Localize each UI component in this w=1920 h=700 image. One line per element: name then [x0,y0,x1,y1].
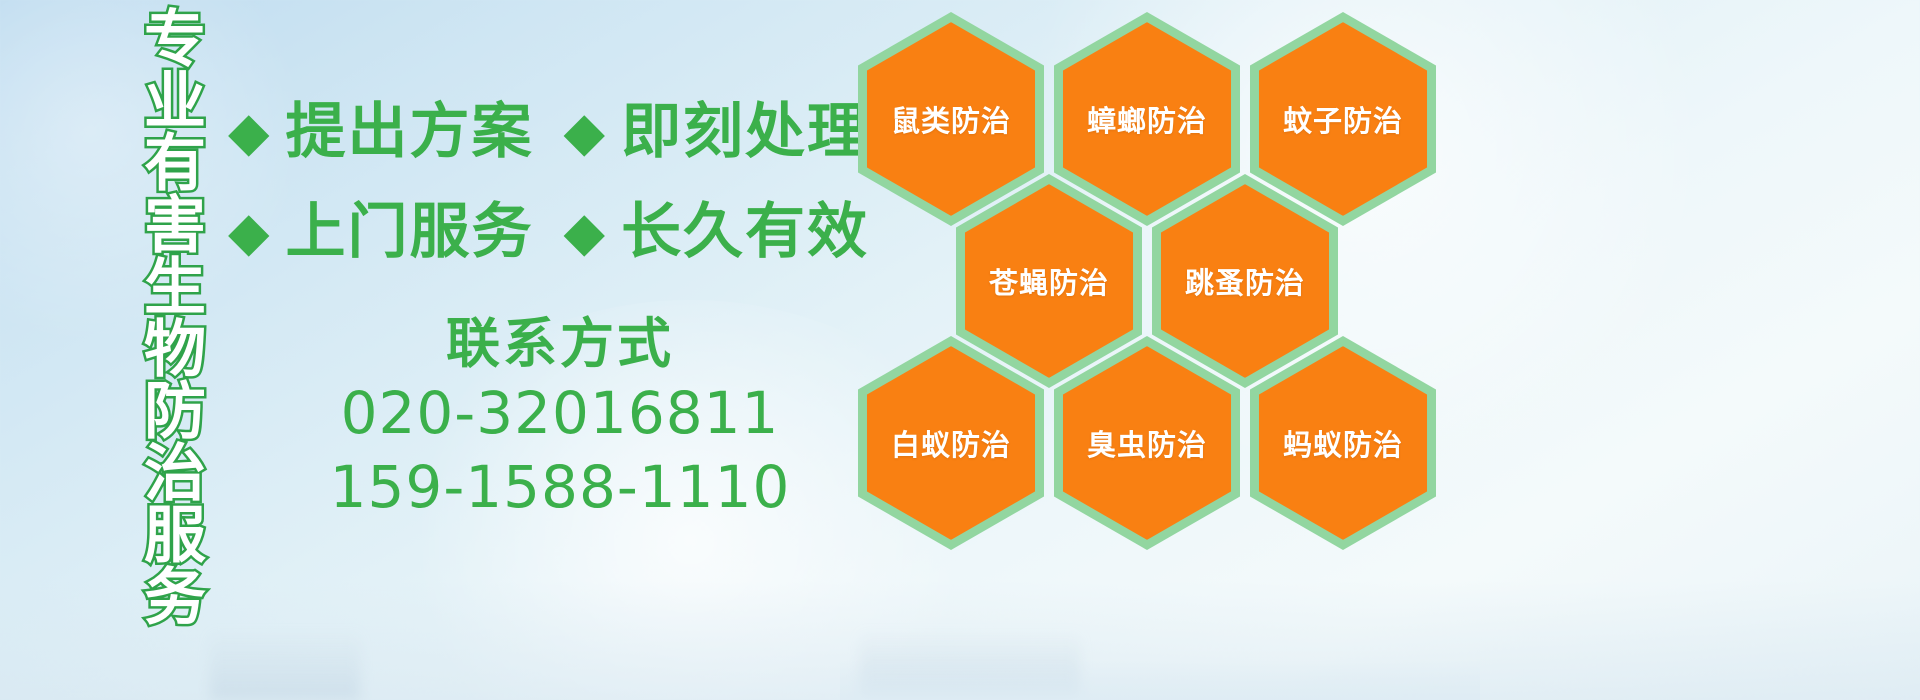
diamond-bullet-icon: ◆ [564,105,606,159]
service-hexagon-grid: 鼠类防治 蟑螂防治 蚊子防治 苍蝇防治 跳蚤防治 白蚁防治 臭虫防治 蚂蚁防治 [858,4,1458,556]
contact-phone-landline[interactable]: 020-32016811 [300,376,820,450]
background-bottom-haze [0,580,1920,700]
feature-label: 上门服务 [286,202,534,262]
feature-item: ◆ 即刻处理 [564,102,870,162]
contact-phone-mobile[interactable]: 159-1588-1110 [300,450,820,524]
feature-item: ◆ 提出方案 [228,102,534,162]
service-hex-bedbug[interactable]: 臭虫防治 [1054,336,1240,550]
background-streak-1 [210,630,360,700]
background-streak-2 [860,630,1080,700]
feature-label: 即刻处理 [621,102,869,162]
feature-item: ◆ 上门服务 [228,202,534,262]
hexagon-bottom-fade [840,660,1480,700]
feature-list: ◆ 提出方案 ◆ 即刻处理 ◆ 上门服务 ◆ 长久有效 [228,82,878,282]
service-hex-label: 臭虫防治 [1054,336,1240,550]
service-hex-termite[interactable]: 白蚁防治 [858,336,1044,550]
vertical-headline: 专业有害生物防治服务 [104,6,200,626]
feature-row: ◆ 提出方案 ◆ 即刻处理 [228,82,878,182]
feature-label: 长久有效 [621,202,869,262]
feature-item: ◆ 长久有效 [564,202,870,262]
feature-row: ◆ 上门服务 ◆ 长久有效 [228,182,878,282]
diamond-bullet-icon: ◆ [228,205,270,259]
service-hex-label: 蚂蚁防治 [1250,336,1436,550]
service-hex-label: 白蚁防治 [858,336,1044,550]
feature-label: 提出方案 [286,102,534,162]
diamond-bullet-icon: ◆ [228,105,270,159]
contact-label: 联系方式 [300,312,820,376]
diamond-bullet-icon: ◆ [564,205,606,259]
service-hex-ant[interactable]: 蚂蚁防治 [1250,336,1436,550]
contact-block: 联系方式 020-32016811 159-1588-1110 [300,312,820,524]
